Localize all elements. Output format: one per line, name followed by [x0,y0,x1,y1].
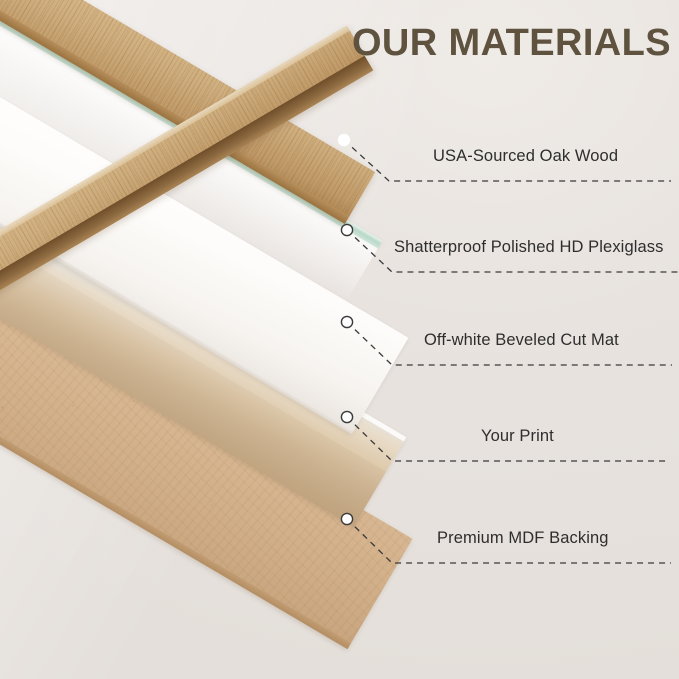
materials-infographic: OUR MATERIALS USA-Sourced Oak Wood Shatt… [0,0,679,679]
page-title: OUR MATERIALS [352,22,671,65]
exploded-layer-stack [0,0,679,679]
